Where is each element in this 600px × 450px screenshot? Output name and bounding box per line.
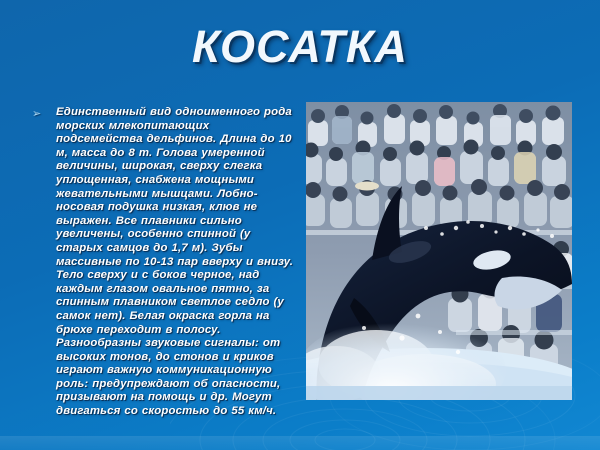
page-title: КОСАТКА [0,24,600,69]
presentation-slide: КОСАТКА ➢ Единственный вид одноименного … [0,0,600,450]
arrow-bullet-icon: ➢ [32,109,41,120]
bottom-accent-band [0,436,600,450]
orca-breaching-photo [306,102,572,400]
bullet-list-item: ➢ Единственный вид одноименного рода мор… [30,106,298,419]
body-paragraph: Единственный вид одноименного рода морск… [56,106,298,419]
content-text-block: ➢ Единственный вид одноименного рода мор… [30,106,298,419]
